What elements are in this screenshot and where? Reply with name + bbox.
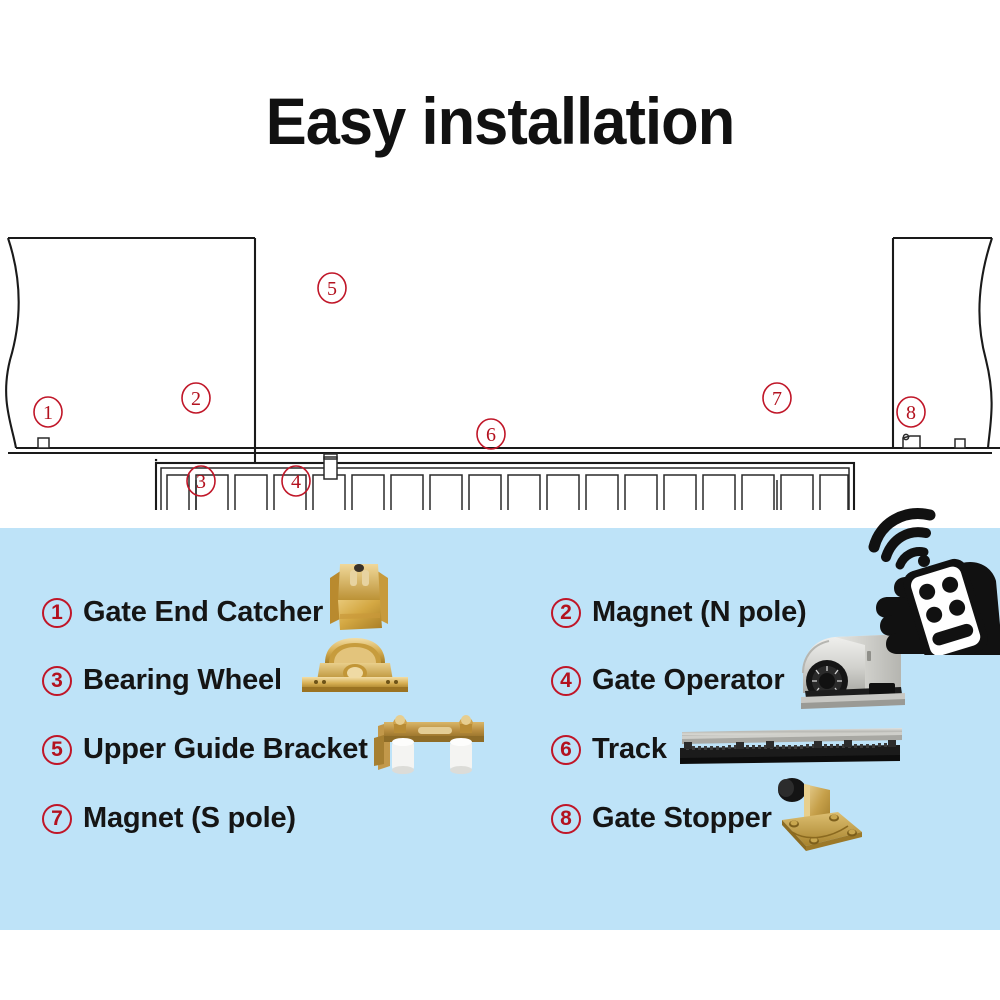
legend-number-7: 7: [42, 804, 72, 834]
svg-text:1: 1: [43, 402, 53, 424]
installation-diagram: .ln{fill:none;stroke:#1a1a1a;stroke-widt…: [0, 210, 1000, 510]
svg-text:4: 4: [291, 471, 301, 493]
svg-text:6: 6: [486, 424, 496, 446]
legend-label-2: Magnet (N pole): [592, 596, 807, 629]
legend-item-4[interactable]: 4 Gate Operator: [551, 664, 784, 697]
page-root: Easy installation .ln{fill:none;stroke:#…: [0, 0, 1000, 1000]
svg-text:3: 3: [196, 471, 206, 493]
legend-item-3[interactable]: 3 Bearing Wheel: [42, 664, 282, 697]
legend-number-1: 1: [42, 598, 72, 628]
legend-item-1[interactable]: 1 Gate End Catcher: [42, 596, 323, 629]
gate-stopper-photo: [764, 776, 868, 856]
svg-text:2: 2: [191, 388, 201, 410]
diagram-marker-1: 1: [34, 397, 62, 427]
legend-item-2[interactable]: 2 Magnet (N pole): [551, 596, 807, 629]
sliding-gate: [156, 460, 854, 510]
legend-item-5[interactable]: 5 Upper Guide Bracket: [42, 733, 368, 766]
legend-item-6[interactable]: 6 Track: [551, 733, 667, 766]
gate-end-catcher-photo: [318, 556, 400, 636]
upper-guide-bracket-photo: [370, 708, 490, 776]
left-wall: [6, 238, 1000, 453]
legend-label-5: Upper Guide Bracket: [83, 733, 368, 766]
legend-panel: 1 Gate End Catcher 3 Bearing Wheel 5 Upp…: [0, 528, 1000, 930]
legend-number-3: 3: [42, 666, 72, 696]
legend-label-1: Gate End Catcher: [83, 596, 323, 629]
svg-text:5: 5: [327, 278, 337, 300]
upper-guide-bracket-on-gate: [255, 238, 337, 479]
legend-number-4: 4: [551, 666, 581, 696]
legend-number-8: 8: [551, 804, 581, 834]
legend-label-8: Gate Stopper: [592, 802, 772, 835]
bearing-wheel-photo: [296, 633, 414, 695]
legend-label-7: Magnet (S pole): [83, 802, 296, 835]
track-photo: [674, 724, 906, 768]
svg-text:7: 7: [772, 388, 782, 410]
diagram-marker-5: 5: [318, 273, 346, 303]
legend-item-7[interactable]: 7 Magnet (S pole): [42, 802, 296, 835]
svg-text:8: 8: [906, 402, 916, 424]
legend-item-8[interactable]: 8 Gate Stopper: [551, 802, 772, 835]
diagram-marker-2: 2: [182, 383, 210, 413]
diagram-marker-7: 7: [763, 383, 791, 413]
legend-number-5: 5: [42, 735, 72, 765]
diagram-marker-8: 8: [897, 397, 925, 427]
legend-label-6: Track: [592, 733, 667, 766]
legend-label-4: Gate Operator: [592, 664, 784, 697]
diagram-marker-6: 6: [477, 419, 505, 449]
legend-number-2: 2: [551, 598, 581, 628]
remote-control-signal-icon: [862, 505, 1000, 655]
legend-label-3: Bearing Wheel: [83, 664, 282, 697]
page-title: Easy installation: [35, 83, 965, 159]
legend-number-6: 6: [551, 735, 581, 765]
